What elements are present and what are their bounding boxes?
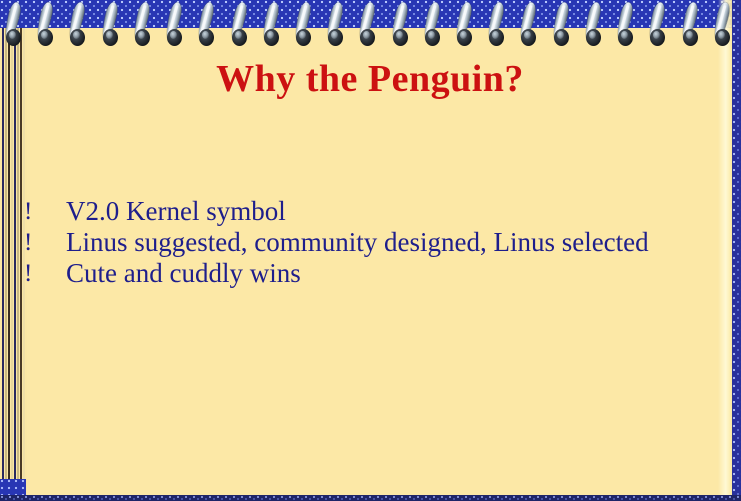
spiral-ring-icon <box>167 2 182 48</box>
spiral-ring-hole <box>650 29 665 46</box>
spiral-ring-hole <box>199 29 214 46</box>
spiral-ring-icon <box>586 2 601 48</box>
spiral-ring-hole <box>103 29 118 46</box>
presentation-slide: Why the Penguin? ! V2.0 Kernel symbol ! … <box>0 0 741 501</box>
spiral-ring-hole <box>618 29 633 46</box>
spiral-ring-icon <box>393 2 408 48</box>
spiral-ring-icon <box>360 2 375 48</box>
spiral-ring-icon <box>554 2 569 48</box>
spiral-ring-hole <box>683 29 698 46</box>
spiral-ring-hole <box>6 29 21 46</box>
bullet-item: ! V2.0 Kernel symbol <box>18 196 708 227</box>
spiral-ring-icon <box>6 2 21 48</box>
bullet-item: ! Linus suggested, community designed, L… <box>18 227 708 258</box>
slide-body-list: ! V2.0 Kernel symbol ! Linus suggested, … <box>18 196 708 289</box>
spiral-ring-hole <box>167 29 182 46</box>
spiral-ring-icon <box>296 2 311 48</box>
spiral-ring-hole <box>457 29 472 46</box>
spiral-ring-hole <box>70 29 85 46</box>
spiral-ring-icon <box>618 2 633 48</box>
spiral-ring-icon <box>457 2 472 48</box>
spiral-ring-icon <box>199 2 214 48</box>
spiral-ring-icon <box>683 2 698 48</box>
bullet-marker-icon: ! <box>18 258 66 289</box>
bullet-text: Linus suggested, community designed, Lin… <box>66 227 691 258</box>
spiral-ring-hole <box>715 29 730 46</box>
spiral-ring-hole <box>521 29 536 46</box>
spiral-ring-icon <box>135 2 150 48</box>
spiral-ring-icon <box>650 2 665 48</box>
spiral-ring-icon <box>38 2 53 48</box>
spiral-ring-hole <box>586 29 601 46</box>
bullet-text: Cute and cuddly wins <box>66 258 708 289</box>
spiral-ring-hole <box>296 29 311 46</box>
spiral-ring-hole <box>328 29 343 46</box>
spiral-ring-hole <box>232 29 247 46</box>
spiral-ring-hole <box>489 29 504 46</box>
spiral-ring-icon <box>489 2 504 48</box>
bottom-blue-band <box>0 495 741 501</box>
spiral-ring-hole <box>554 29 569 46</box>
bullet-text: V2.0 Kernel symbol <box>66 196 708 227</box>
slide-title: Why the Penguin? <box>40 56 700 102</box>
spiral-ring-hole <box>425 29 440 46</box>
bullet-item: ! Cute and cuddly wins <box>18 258 708 289</box>
spiral-ring-icon <box>232 2 247 48</box>
spiral-ring-icon <box>715 2 730 48</box>
spiral-ring-icon <box>264 2 279 48</box>
spiral-ring-hole <box>264 29 279 46</box>
spiral-ring-hole <box>393 29 408 46</box>
spiral-ring-icon <box>425 2 440 48</box>
spiral-ring-icon <box>103 2 118 48</box>
bullet-marker-icon: ! <box>18 196 66 227</box>
right-blue-border <box>732 0 741 501</box>
spiral-ring-hole <box>135 29 150 46</box>
spiral-ring-hole <box>38 29 53 46</box>
spiral-ring-icon <box>70 2 85 48</box>
spiral-ring-icon <box>328 2 343 48</box>
spiral-ring-icon <box>521 2 536 48</box>
spiral-binding <box>0 0 741 52</box>
bullet-marker-icon: ! <box>18 227 66 258</box>
spiral-ring-hole <box>360 29 375 46</box>
